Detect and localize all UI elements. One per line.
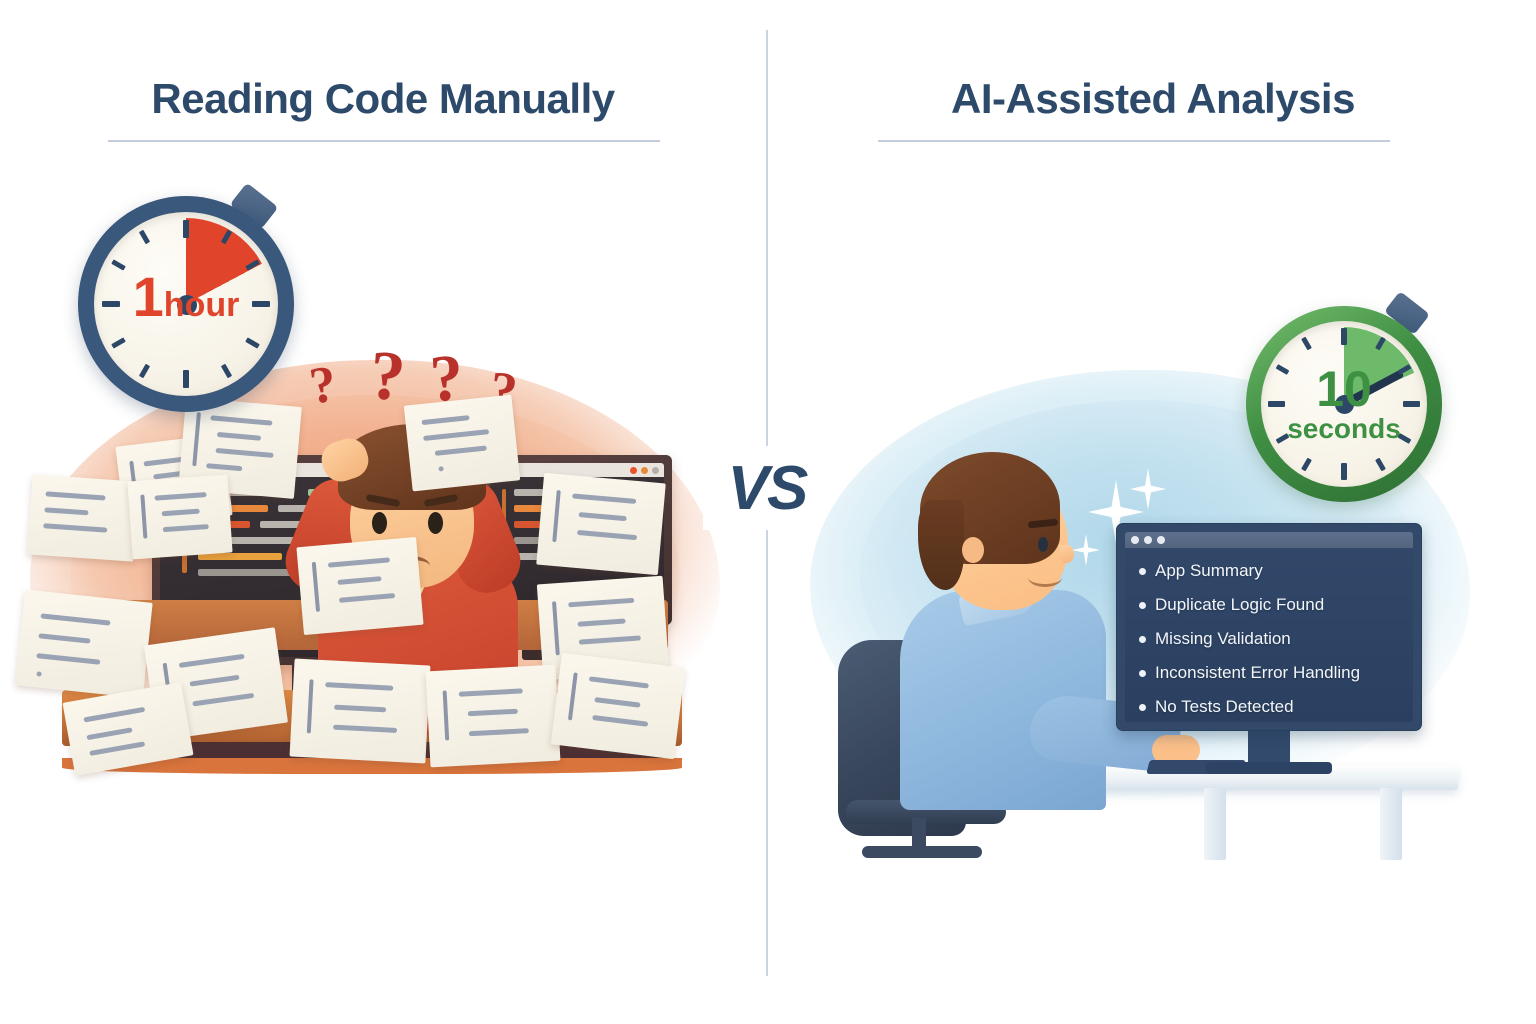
list-item: Inconsistent Error Handling (1139, 656, 1405, 690)
paper-dot (36, 671, 41, 676)
right-desk-leg-right (1380, 788, 1402, 860)
paper-line (86, 727, 132, 740)
stopwatch-tick (252, 301, 270, 307)
panel-divider-bottom (766, 528, 768, 976)
stopwatch-value-number: 1 (133, 265, 164, 328)
paper-line (334, 705, 386, 713)
paper-line (579, 635, 641, 644)
stopwatch-manual-value: 1hour (78, 270, 294, 323)
paper-brace (552, 601, 560, 655)
paper-line (44, 507, 88, 515)
ai-monitor-screen: App Summary Duplicate Logic Found Missin… (1125, 532, 1413, 722)
paper-line (154, 492, 206, 501)
code-paper (536, 473, 666, 575)
stopwatch-tick (1268, 401, 1285, 407)
paper-line (469, 728, 529, 736)
paper-line (468, 709, 518, 717)
paper-brace (552, 490, 561, 542)
paper-line (162, 509, 200, 517)
list-item: Missing Validation (1139, 622, 1405, 656)
paper-line (325, 682, 393, 691)
right-monitor-neck (1248, 731, 1290, 765)
window-dot-maximize[interactable] (1157, 536, 1165, 544)
vs-label: VS (703, 446, 831, 530)
code-line (198, 553, 282, 560)
finding-label: No Tests Detected (1155, 697, 1294, 717)
list-item: Duplicate Logic Found (1139, 588, 1405, 622)
paper-line (215, 448, 273, 458)
list-item: No Tests Detected (1139, 690, 1405, 722)
code-paper (15, 590, 152, 699)
paper-line (192, 693, 254, 707)
right-person-smile (1028, 568, 1062, 587)
paper-line (217, 432, 261, 441)
finding-label: App Summary (1155, 561, 1263, 581)
stopwatch-tick (183, 220, 189, 238)
right-person-nose (1060, 545, 1074, 563)
paper-line (89, 741, 145, 756)
bullet-icon (1139, 602, 1146, 609)
left-person-eye-left (372, 512, 387, 534)
paper-dot (438, 466, 443, 471)
paper-brace (312, 562, 320, 612)
right-desk-leg-left (1204, 788, 1226, 860)
paper-brace (307, 679, 314, 733)
titlebar-dot-red (630, 467, 637, 474)
right-title-rule (878, 140, 1390, 142)
paper-line (189, 675, 239, 687)
ai-findings-list: App Summary Duplicate Logic Found Missin… (1139, 554, 1405, 722)
stopwatch-tick (1341, 463, 1347, 480)
right-monitor-base (1206, 762, 1332, 774)
list-item: App Summary (1139, 554, 1405, 588)
paper-brace (140, 494, 147, 538)
left-title-rule (108, 140, 660, 142)
question-mark-2: ? (368, 341, 408, 413)
paper-line (339, 593, 395, 603)
panel-divider-top (766, 30, 768, 450)
paper-line (577, 530, 637, 540)
titlebar-dot-grey (652, 467, 659, 474)
ai-window-titlebar (1125, 532, 1413, 548)
paper-line (594, 697, 640, 708)
finding-label: Inconsistent Error Handling (1155, 663, 1360, 683)
bullet-icon (1139, 704, 1146, 711)
paper-line (435, 445, 487, 455)
paper-brace (192, 412, 201, 466)
comparison-infographic: Reading Code Manually (0, 0, 1536, 1024)
bullet-icon (1139, 568, 1146, 575)
paper-brace (568, 672, 578, 720)
paper-line (83, 707, 145, 723)
bullet-icon (1139, 636, 1146, 643)
code-paper (127, 475, 232, 560)
right-panel-title: AI-Assisted Analysis (770, 78, 1536, 120)
paper-line (421, 415, 469, 425)
stopwatch-tick (1341, 328, 1347, 345)
paper-line (459, 688, 523, 696)
paper-brace (443, 690, 450, 740)
window-dot-close[interactable] (1131, 536, 1139, 544)
code-paper (290, 659, 431, 764)
paper-line (589, 676, 649, 688)
code-paper (296, 537, 423, 635)
stopwatch-tick (1403, 401, 1420, 407)
finding-label: Missing Validation (1155, 629, 1291, 649)
left-person-eye-right (428, 512, 443, 534)
stopwatch-tick (102, 301, 120, 307)
right-person-ear (962, 537, 984, 563)
paper-line (328, 557, 390, 567)
paper-line (572, 493, 636, 504)
right-person-eye (1038, 537, 1048, 552)
paper-line (337, 576, 381, 585)
code-paper (426, 665, 561, 768)
ai-monitor: App Summary Duplicate Logic Found Missin… (1116, 523, 1422, 731)
code-paper (404, 395, 520, 492)
paper-line (36, 653, 100, 665)
paper-line (423, 429, 489, 441)
paper-line (38, 633, 90, 643)
left-panel-title: Reading Code Manually (0, 78, 766, 120)
paper-line (210, 415, 272, 425)
paper-line (333, 725, 397, 733)
finding-label: Duplicate Logic Found (1155, 595, 1324, 615)
right-chair-base (862, 846, 982, 858)
paper-line (592, 715, 648, 727)
paper-line (579, 512, 627, 521)
titlebar-dot-orange (641, 467, 648, 474)
code-paper (551, 653, 685, 759)
paper-line (43, 523, 107, 532)
code-paper (27, 474, 138, 561)
stopwatch-ai: 10 seconds (1246, 306, 1442, 502)
paper-line (40, 613, 110, 625)
paper-line (179, 654, 245, 668)
bullet-icon (1139, 670, 1146, 677)
window-dot-minimize[interactable] (1144, 536, 1152, 544)
paper-line (45, 491, 105, 500)
paper-line (578, 618, 626, 626)
stopwatch-value-unit: hour (164, 286, 240, 324)
stopwatch-manual: 1hour (78, 196, 294, 412)
paper-line (206, 463, 242, 471)
paper-line (163, 524, 209, 532)
stopwatch-tick (183, 370, 189, 388)
paper-line (568, 598, 634, 608)
